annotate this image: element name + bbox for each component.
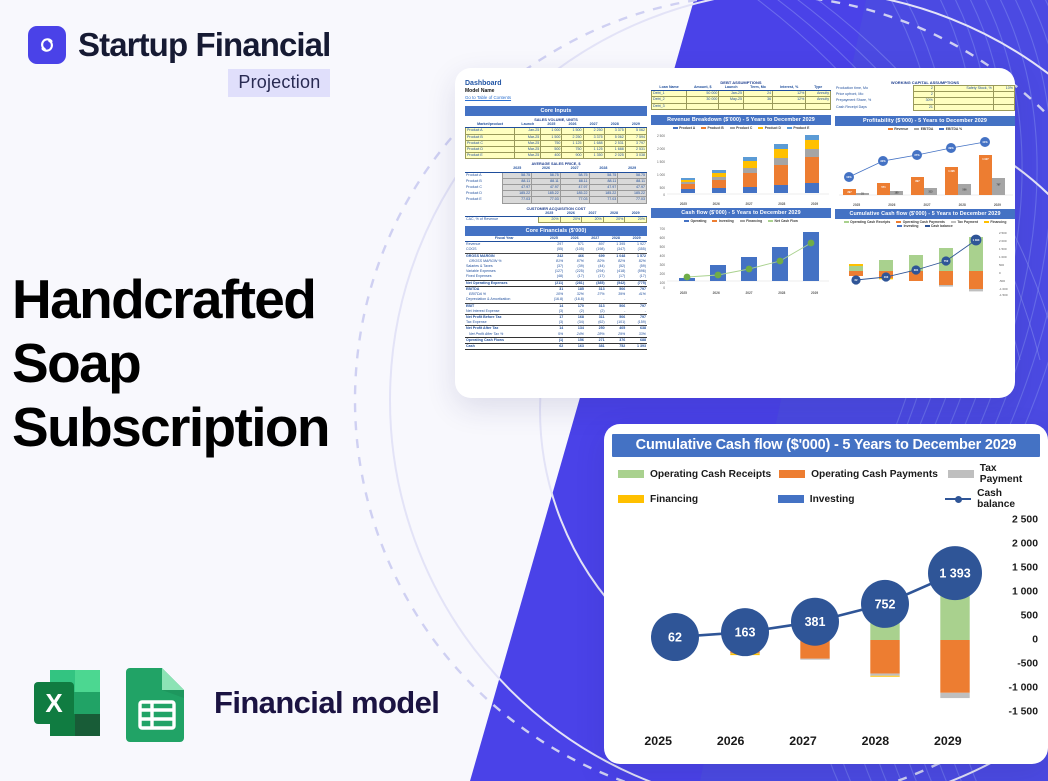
y-axis-tick: -500 (1017, 659, 1038, 670)
legend-item: Revenue (888, 127, 909, 131)
legend-swatch-orange (779, 470, 805, 478)
svg-text:752: 752 (944, 259, 949, 263)
svg-text:506: 506 (963, 189, 968, 192)
legend-label: Cash balance (977, 488, 1038, 510)
cash-chart-title: Cumulative Cash flow ($'000) - 5 Years t… (612, 434, 1040, 457)
table-cell (719, 103, 744, 109)
table-row: Cash Receipt Days21 (835, 104, 1015, 110)
svg-text:1 927: 1 927 (982, 157, 989, 161)
table-cell: 20% (538, 216, 560, 222)
avg-price-table: 20252026202720282029Product A58.7558.755… (465, 166, 647, 203)
y-axis-tick: -1 500 (1009, 707, 1038, 718)
cac-table: 20252026202720282029CAC, % of Revenue20%… (465, 211, 647, 223)
cash-flow-chart: 700600500 400300200 1000 (651, 225, 831, 291)
legend-label: Investing (810, 494, 855, 505)
format-badges: X Financial model (28, 664, 439, 742)
legend-swatch-yellow (618, 495, 644, 503)
legend-item: Financing (984, 220, 1006, 224)
x-axis-tick: 2026 (694, 734, 766, 748)
legend-item: Investing (712, 219, 733, 223)
cash-flow-title: Cash flow ($'000) - 5 Years to December … (651, 208, 831, 218)
svg-text:400: 400 (660, 254, 666, 258)
table-cell: 400 (541, 153, 562, 159)
svg-text:2 500: 2 500 (657, 134, 665, 138)
dashboard-left-column: Dashboard Model Name Go to Table of Cont… (465, 80, 647, 350)
table-cell: Cash (465, 343, 544, 349)
svg-text:381: 381 (805, 615, 826, 629)
table-cell: 20% (625, 216, 647, 222)
svg-text:-1 500: -1 500 (999, 293, 1008, 296)
cumulative-cash-flow-legend: Operating Cash ReceiptsOperating Cash Pa… (835, 220, 1015, 228)
format-badge-label: Financial model (214, 685, 439, 721)
table-cell (806, 103, 831, 109)
core-financials-table: Fiscal Year20252026202720282029Revenue29… (465, 236, 647, 350)
legend-item: Product C (730, 126, 753, 130)
dashboard-screenshot-card[interactable]: Dashboard Model Name Go to Table of Cont… (455, 68, 1015, 398)
legend-swatch-green (618, 470, 644, 478)
svg-text:797: 797 (997, 184, 1002, 187)
svg-text:100: 100 (660, 281, 666, 285)
x-axis-tick: 2025 (622, 734, 694, 748)
svg-text:0: 0 (663, 286, 665, 290)
profitability-legend: RevenueEBITDAEBITDA % (835, 127, 1015, 131)
cash-chart-legend: Operating Cash Receipts Operating Cash P… (618, 463, 1038, 510)
svg-text:X: X (45, 688, 63, 718)
x-axis-tick: 2027 (767, 734, 839, 748)
svg-text:-1 000: -1 000 (999, 287, 1008, 291)
headline-line-3: Subscription (12, 396, 442, 460)
y-axis-tick: 500 (1021, 611, 1038, 622)
profitability-xaxis: 20252026202720282029 (835, 203, 1015, 207)
svg-text:0: 0 (663, 193, 665, 197)
x-axis-tick: 2028 (839, 734, 911, 748)
page-title: Handcrafted Soap Subscription (12, 268, 442, 459)
table-cell: 77.03 (560, 197, 589, 203)
table-cell: Cash Receipt Days (835, 104, 913, 110)
legend-item: Net Cash Flow (768, 219, 798, 223)
revenue-breakdown-chart: 2 5002 000 1 5001 000 5000 (651, 132, 831, 202)
profitability-title: Profitability ($'000) - 5 Years to Decem… (835, 116, 1015, 126)
table-cell: Product E (466, 153, 515, 159)
legend-item: Cash balance (925, 224, 953, 228)
svg-text:1 393: 1 393 (939, 567, 970, 581)
table-cell (743, 103, 772, 109)
y-axis-tick: 1 500 (1012, 563, 1038, 574)
table-cell: 20% (560, 216, 582, 222)
svg-text:571: 571 (881, 185, 886, 189)
legend-label: Operating Cash Receipts (650, 469, 771, 480)
table-cell: Mar-25 (515, 153, 541, 159)
revenue-breakdown-legend: Product AProduct BProduct CProduct DProd… (651, 126, 831, 130)
brand-block: Startup Financial Projection (28, 26, 330, 97)
table-cell: 21 (913, 104, 934, 110)
svg-text:1 393: 1 393 (973, 238, 980, 242)
svg-text:1 500: 1 500 (657, 160, 665, 164)
table-cell (687, 103, 719, 109)
google-sheets-icon (122, 664, 192, 742)
table-cell: 20% (582, 216, 604, 222)
legend-item: Product D (758, 126, 781, 130)
svg-text:700: 700 (660, 227, 666, 231)
table-cell: 77.03 (589, 197, 618, 203)
table-row: Debt_3 (652, 103, 831, 109)
svg-text:500: 500 (660, 186, 666, 190)
legend-item-cash-balance: Cash balance (945, 488, 1038, 510)
revenue-breakdown-title: Revenue Breakdown ($'000) - 5 Years to D… (651, 115, 831, 125)
legend-swatch-blue (778, 495, 804, 503)
revenue-breakdown-xaxis: 20252026202720282029 (651, 202, 831, 206)
y-axis-tick: 0 (1032, 635, 1038, 646)
svg-text:163: 163 (884, 275, 889, 279)
table-row: CAC, % of Revenue20%20%20%20%20% (465, 216, 647, 222)
table-cell: Product E (465, 197, 503, 203)
svg-text:10%: 10% (846, 175, 852, 179)
cash-chart-plot: 621633817521 393 2 5002 0001 5001 000500… (612, 516, 1040, 748)
svg-text:-500: -500 (999, 279, 1005, 283)
table-cell: Debt_3 (652, 103, 687, 109)
table-cell: 77.03 (503, 197, 532, 203)
table-cell: 1 393 (626, 343, 647, 349)
svg-text:2 500: 2 500 (999, 231, 1007, 235)
legend-item: Financing (740, 219, 762, 223)
svg-text:381: 381 (914, 268, 919, 272)
legend-item-operating-cash-receipts: Operating Cash Receipts (618, 463, 779, 485)
y-axis-tick: -1 000 (1009, 683, 1038, 694)
svg-text:897: 897 (915, 179, 920, 183)
table-cell: 77.03 (618, 197, 647, 203)
legend-item: Product B (701, 126, 724, 130)
model-name: Model Name (465, 88, 647, 94)
y-axis-tick: 2 500 (1012, 515, 1038, 526)
legend-item-tax-payment: Tax Payment (948, 463, 1038, 485)
legend-item: EBITDA (914, 127, 933, 131)
table-cell (773, 103, 806, 109)
table-cell: 62 (544, 343, 565, 349)
table-cell (993, 104, 1014, 110)
table-row: Product E77.0377.0377.0377.0377.03 (465, 197, 647, 203)
svg-text:300: 300 (660, 263, 666, 267)
legend-swatch-line (945, 495, 971, 503)
legend-item: Operating (684, 219, 706, 223)
svg-text:2 000: 2 000 (999, 239, 1007, 243)
legend-item: EBITDA % (939, 127, 962, 131)
table-cell: 3 038 (625, 153, 646, 159)
table-cell: 900 (562, 153, 583, 159)
legend-item: Investing (897, 224, 918, 228)
svg-text:2 000: 2 000 (657, 147, 665, 151)
y-axis-tick: 2 000 (1012, 539, 1038, 550)
table-cell (934, 104, 993, 110)
toc-link[interactable]: Go to Table of Contents (465, 95, 647, 100)
dashboard-title: Dashboard (465, 80, 647, 87)
svg-text:600: 600 (660, 236, 666, 240)
legend-item: Tax Payment (951, 220, 978, 224)
swirl-logo-icon (28, 26, 66, 64)
svg-text:200: 200 (660, 272, 666, 276)
svg-text:39%: 39% (948, 146, 954, 150)
table-cell: 381 (585, 343, 606, 349)
table-row: Cash621633817521 393 (465, 343, 647, 349)
svg-text:62: 62 (668, 631, 682, 645)
cumulative-cash-flow-title: Cumulative Cash flow ($'000) - 5 Years t… (835, 209, 1015, 219)
brand-name: Startup Financial (78, 26, 330, 64)
legend-item: Product E (787, 126, 809, 130)
cash-chart-svg: 621633817521 393 (618, 516, 998, 721)
core-inputs-band: Core Inputs (465, 106, 647, 116)
svg-text:0: 0 (999, 271, 1001, 275)
svg-text:1 000: 1 000 (999, 255, 1007, 259)
svg-text:500: 500 (999, 263, 1004, 267)
table-cell: CAC, % of Revenue (465, 216, 538, 222)
svg-text:185: 185 (895, 192, 900, 195)
table-cell: 20% (603, 216, 625, 222)
svg-text:1 500: 1 500 (999, 247, 1007, 251)
svg-text:1 395: 1 395 (948, 169, 955, 173)
table-cell: 752 (606, 343, 627, 349)
headline-line-2: Soap (12, 332, 442, 396)
cash-flow-legend: OperatingInvestingFinancingNet Cash Flow (651, 219, 831, 223)
svg-text:62: 62 (855, 278, 858, 282)
cumulative-cash-flow-card[interactable]: Cumulative Cash flow ($'000) - 5 Years t… (604, 424, 1048, 764)
cash-flow-xaxis: 20252026202720282029 (651, 291, 831, 295)
dashboard-middle-column: DEBT ASSUMPTIONS Loan NameAmount, $Launc… (651, 80, 831, 295)
svg-text:37%: 37% (914, 153, 920, 157)
table-cell: 163 (564, 343, 585, 349)
svg-text:297: 297 (847, 190, 852, 194)
dashboard-right-column: WORKING CAPITAL ASSUMPTIONS Production t… (835, 80, 1015, 296)
svg-text:1 000: 1 000 (657, 173, 665, 177)
svg-text:41%: 41% (982, 140, 988, 144)
brand-subtitle: Projection (228, 69, 330, 97)
core-financials-band: Core Financials ($'000) (465, 226, 647, 236)
sales-volume-table: Market/productLaunch20252026202720282029… (465, 122, 647, 159)
table-cell: 1 350 (583, 153, 604, 159)
y-axis-tick: 1 000 (1012, 587, 1038, 598)
profitability-chart: 297571897 1 3951 927 31185313 506797 10%… (835, 133, 1015, 203)
microsoft-excel-icon: X (28, 664, 106, 742)
headline-line-1: Handcrafted (12, 268, 442, 332)
working-capital-table: Production time, Mo2Safety Stock, %10%Pr… (835, 85, 1015, 111)
legend-item-operating-cash-payments: Operating Cash Payments (779, 463, 948, 485)
legend-label: Tax Payment (980, 463, 1038, 485)
svg-text:313: 313 (929, 191, 934, 194)
x-axis-tick: 2029 (912, 734, 984, 748)
cumulative-cash-flow-chart-mini: 2 5002 0001 500 1 0005000 -500-1 000-1 5… (835, 230, 1015, 296)
legend-item-financing: Financing (618, 488, 778, 510)
cash-chart-x-axis: 20252026202720282029 (622, 734, 984, 748)
svg-text:163: 163 (735, 626, 756, 640)
table-cell: 2 025 (604, 153, 625, 159)
cash-chart-y-axis: 2 5002 0001 5001 0005000-500-1 000-1 500 (990, 516, 1038, 716)
svg-text:32%: 32% (880, 159, 886, 163)
table-cell: 77.03 (532, 197, 561, 203)
svg-text:752: 752 (875, 597, 896, 611)
debt-assumptions-table: Loan NameAmount, $LaunchTerm, MoInterest… (651, 85, 831, 110)
legend-label: Operating Cash Payments (811, 469, 938, 480)
table-row: Net Operating Expenses(211)(281)(385)(54… (465, 280, 647, 286)
legend-item-investing: Investing (778, 488, 945, 510)
legend-item: Operating Cash Receipts (844, 220, 891, 224)
table-row: Product EMar-254009001 3502 0253 038 (466, 153, 647, 159)
legend-label: Financing (650, 494, 698, 505)
legend-item: Product A (673, 126, 695, 130)
legend-swatch-gray (948, 470, 974, 478)
svg-text:500: 500 (660, 245, 666, 249)
